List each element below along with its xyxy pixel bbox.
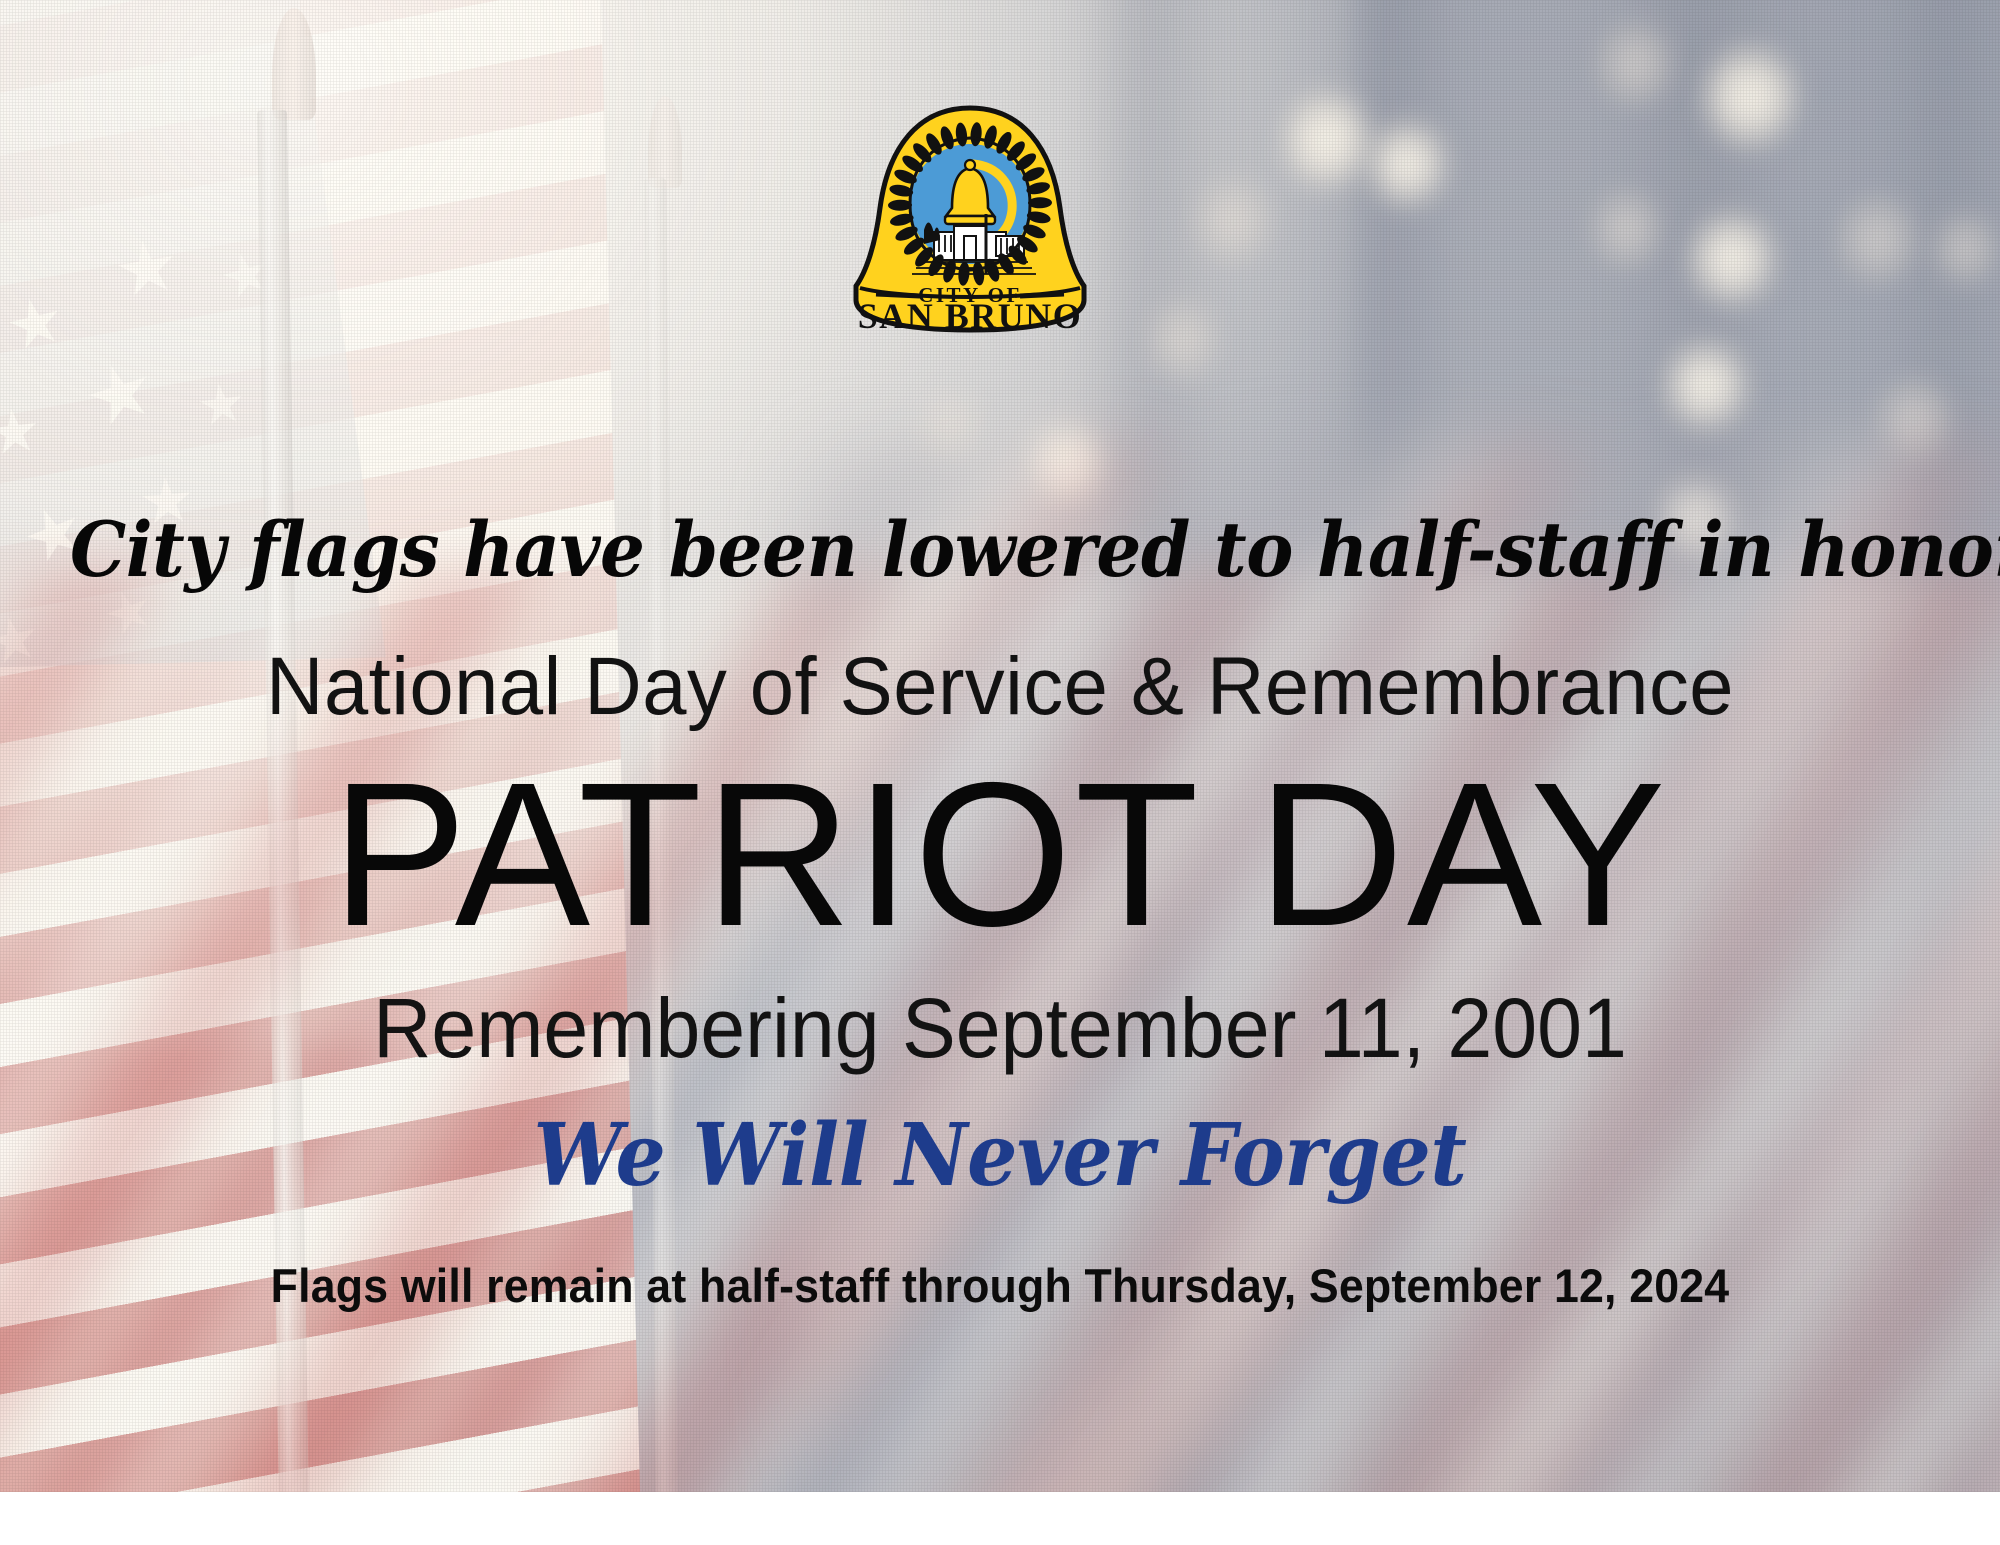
remembrance-subtitle: Remembering September 11, 2001 bbox=[40, 980, 1960, 1077]
occasion-line: National Day of Service & Remembrance bbox=[30, 640, 1970, 734]
patriot-day-poster: CITY OF SAN BRUNO City flags have been l… bbox=[0, 0, 2000, 1545]
script-headline: City flags have been lowered to half-sta… bbox=[70, 505, 1930, 594]
page-title: PATRIOT DAY bbox=[10, 752, 1990, 957]
bottom-white-band bbox=[0, 1492, 2000, 1545]
half-staff-duration-note: Flags will remain at half-staff through … bbox=[50, 1258, 1950, 1313]
poster-text-content: City flags have been lowered to half-sta… bbox=[0, 0, 2000, 1492]
tribute-line: We Will Never Forget bbox=[80, 1105, 1920, 1206]
